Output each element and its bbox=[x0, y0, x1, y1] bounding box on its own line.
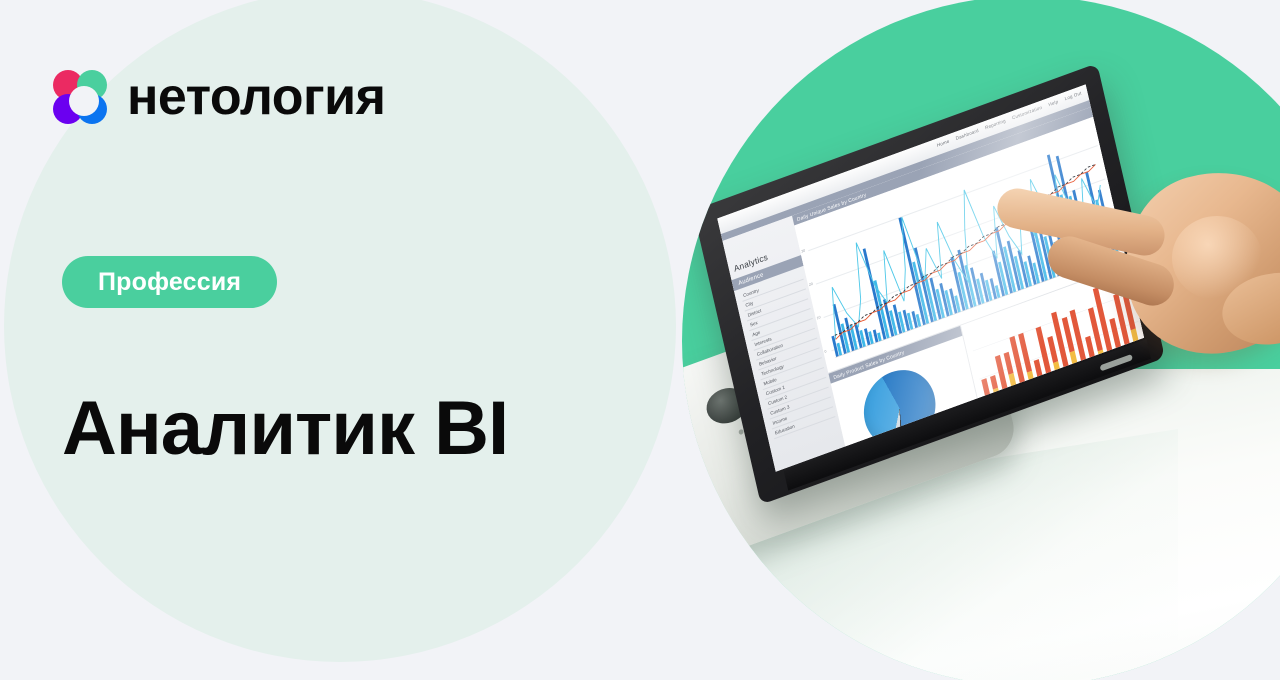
menu-item-reporting[interactable]: Reporting bbox=[985, 118, 1007, 130]
menu-item-help[interactable]: Help bbox=[1048, 99, 1059, 107]
hero-photo: Home Dashboard Reporting Customization H… bbox=[682, 0, 1280, 680]
page-title: Аналитик BI bbox=[62, 389, 508, 469]
logo-center-cutout bbox=[69, 86, 99, 116]
course-type-badge: Профессия bbox=[62, 256, 277, 308]
menu-item-logout[interactable]: Log Out bbox=[1064, 90, 1082, 101]
promo-banner: Home Dashboard Reporting Customization H… bbox=[0, 0, 1280, 680]
brand-name: нетология bbox=[127, 71, 385, 123]
four-circles-icon bbox=[53, 70, 107, 124]
menu-item-dashboard[interactable]: Dashboard bbox=[955, 128, 979, 141]
menu-item-home[interactable]: Home bbox=[936, 138, 949, 147]
pointing-hand bbox=[1032, 146, 1280, 476]
brand-logo[interactable]: нетология bbox=[53, 70, 385, 124]
